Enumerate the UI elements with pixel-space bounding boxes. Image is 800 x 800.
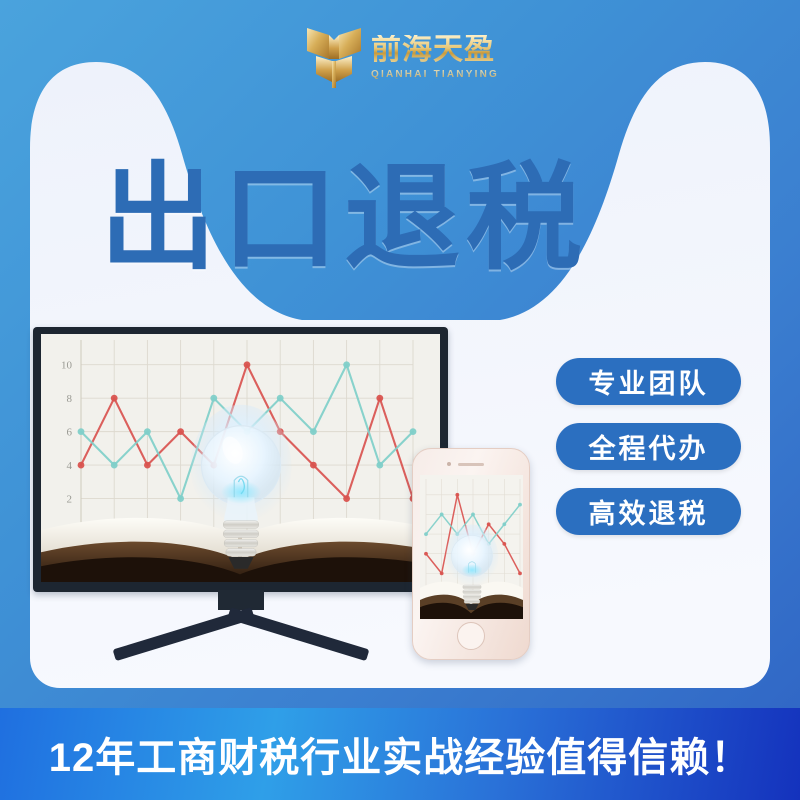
monitor-screen: 024681010%20%30%40%50%60%70%80%90%100% — [41, 334, 440, 582]
poster-root: 前海天盈 QIANHAI TIANYING 出口退税 专业团队 全程代办 高效退… — [0, 0, 800, 800]
svg-text:2: 2 — [67, 494, 73, 506]
phone-earpiece-icon — [458, 463, 484, 466]
logo-name-en: QIANHAI TIANYING — [371, 70, 499, 80]
phone-screen: 40%50%60%70%80% — [420, 475, 523, 619]
badge-full-agency[interactable]: 全程代办 — [556, 423, 741, 470]
svg-text:4: 4 — [67, 460, 73, 472]
logo-wordmark: 前海天盈 QIANHAI TIANYING — [371, 35, 499, 80]
smartphone: 40%50%60%70%80% — [412, 448, 530, 660]
badge-professional-team[interactable]: 专业团队 — [556, 358, 741, 405]
desktop-monitor: 024681010%20%30%40%50%60%70%80%90%100% — [33, 327, 448, 627]
brand-logo: 前海天盈 QIANHAI TIANYING — [305, 18, 525, 96]
page-title: 出口退税 — [100, 160, 588, 276]
monitor-bezel: 024681010%20%30%40%50%60%70%80%90%100% — [33, 327, 448, 592]
badge-efficient-refund[interactable]: 高效退税 — [556, 488, 741, 535]
feature-badge-list: 专业团队 全程代办 高效退税 — [556, 358, 741, 535]
svg-text:10: 10 — [61, 360, 73, 372]
bottom-banner: 12年工商财税行业实战经验值得信赖！ — [0, 708, 800, 800]
phone-open-book-image — [420, 576, 523, 619]
phone-home-button[interactable] — [457, 622, 485, 650]
logo-name-cn: 前海天盈 — [371, 35, 499, 65]
monitor-neck — [218, 590, 264, 610]
svg-text:6: 6 — [67, 427, 73, 439]
phone-front-camera-icon — [447, 462, 451, 466]
svg-text:8: 8 — [67, 393, 73, 405]
open-book-image — [41, 508, 440, 582]
logo-mark-icon — [305, 22, 363, 92]
bottom-banner-text: 12年工商财税行业实战经验值得信赖！ — [49, 725, 752, 783]
